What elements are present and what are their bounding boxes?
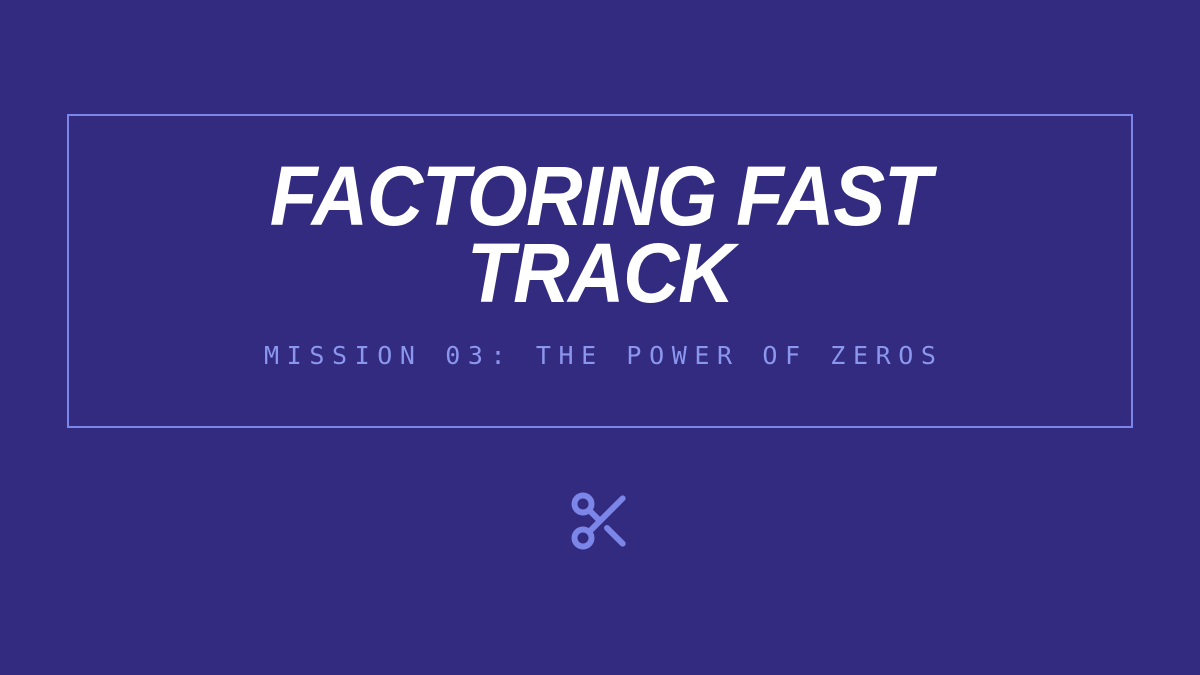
scissors-icon-wrap — [0, 487, 1200, 555]
scissors-icon — [566, 487, 634, 555]
title-slide: FACTORING FAST TRACK MISSION 03: THE POW… — [0, 0, 1200, 675]
hero-frame: FACTORING FAST TRACK MISSION 03: THE POW… — [67, 114, 1133, 428]
page-title: FACTORING FAST TRACK — [125, 158, 1075, 313]
subtitle: MISSION 03: THE POWER OF ZEROS — [89, 341, 1111, 370]
title-block: FACTORING FAST TRACK MISSION 03: THE POW… — [69, 158, 1131, 370]
